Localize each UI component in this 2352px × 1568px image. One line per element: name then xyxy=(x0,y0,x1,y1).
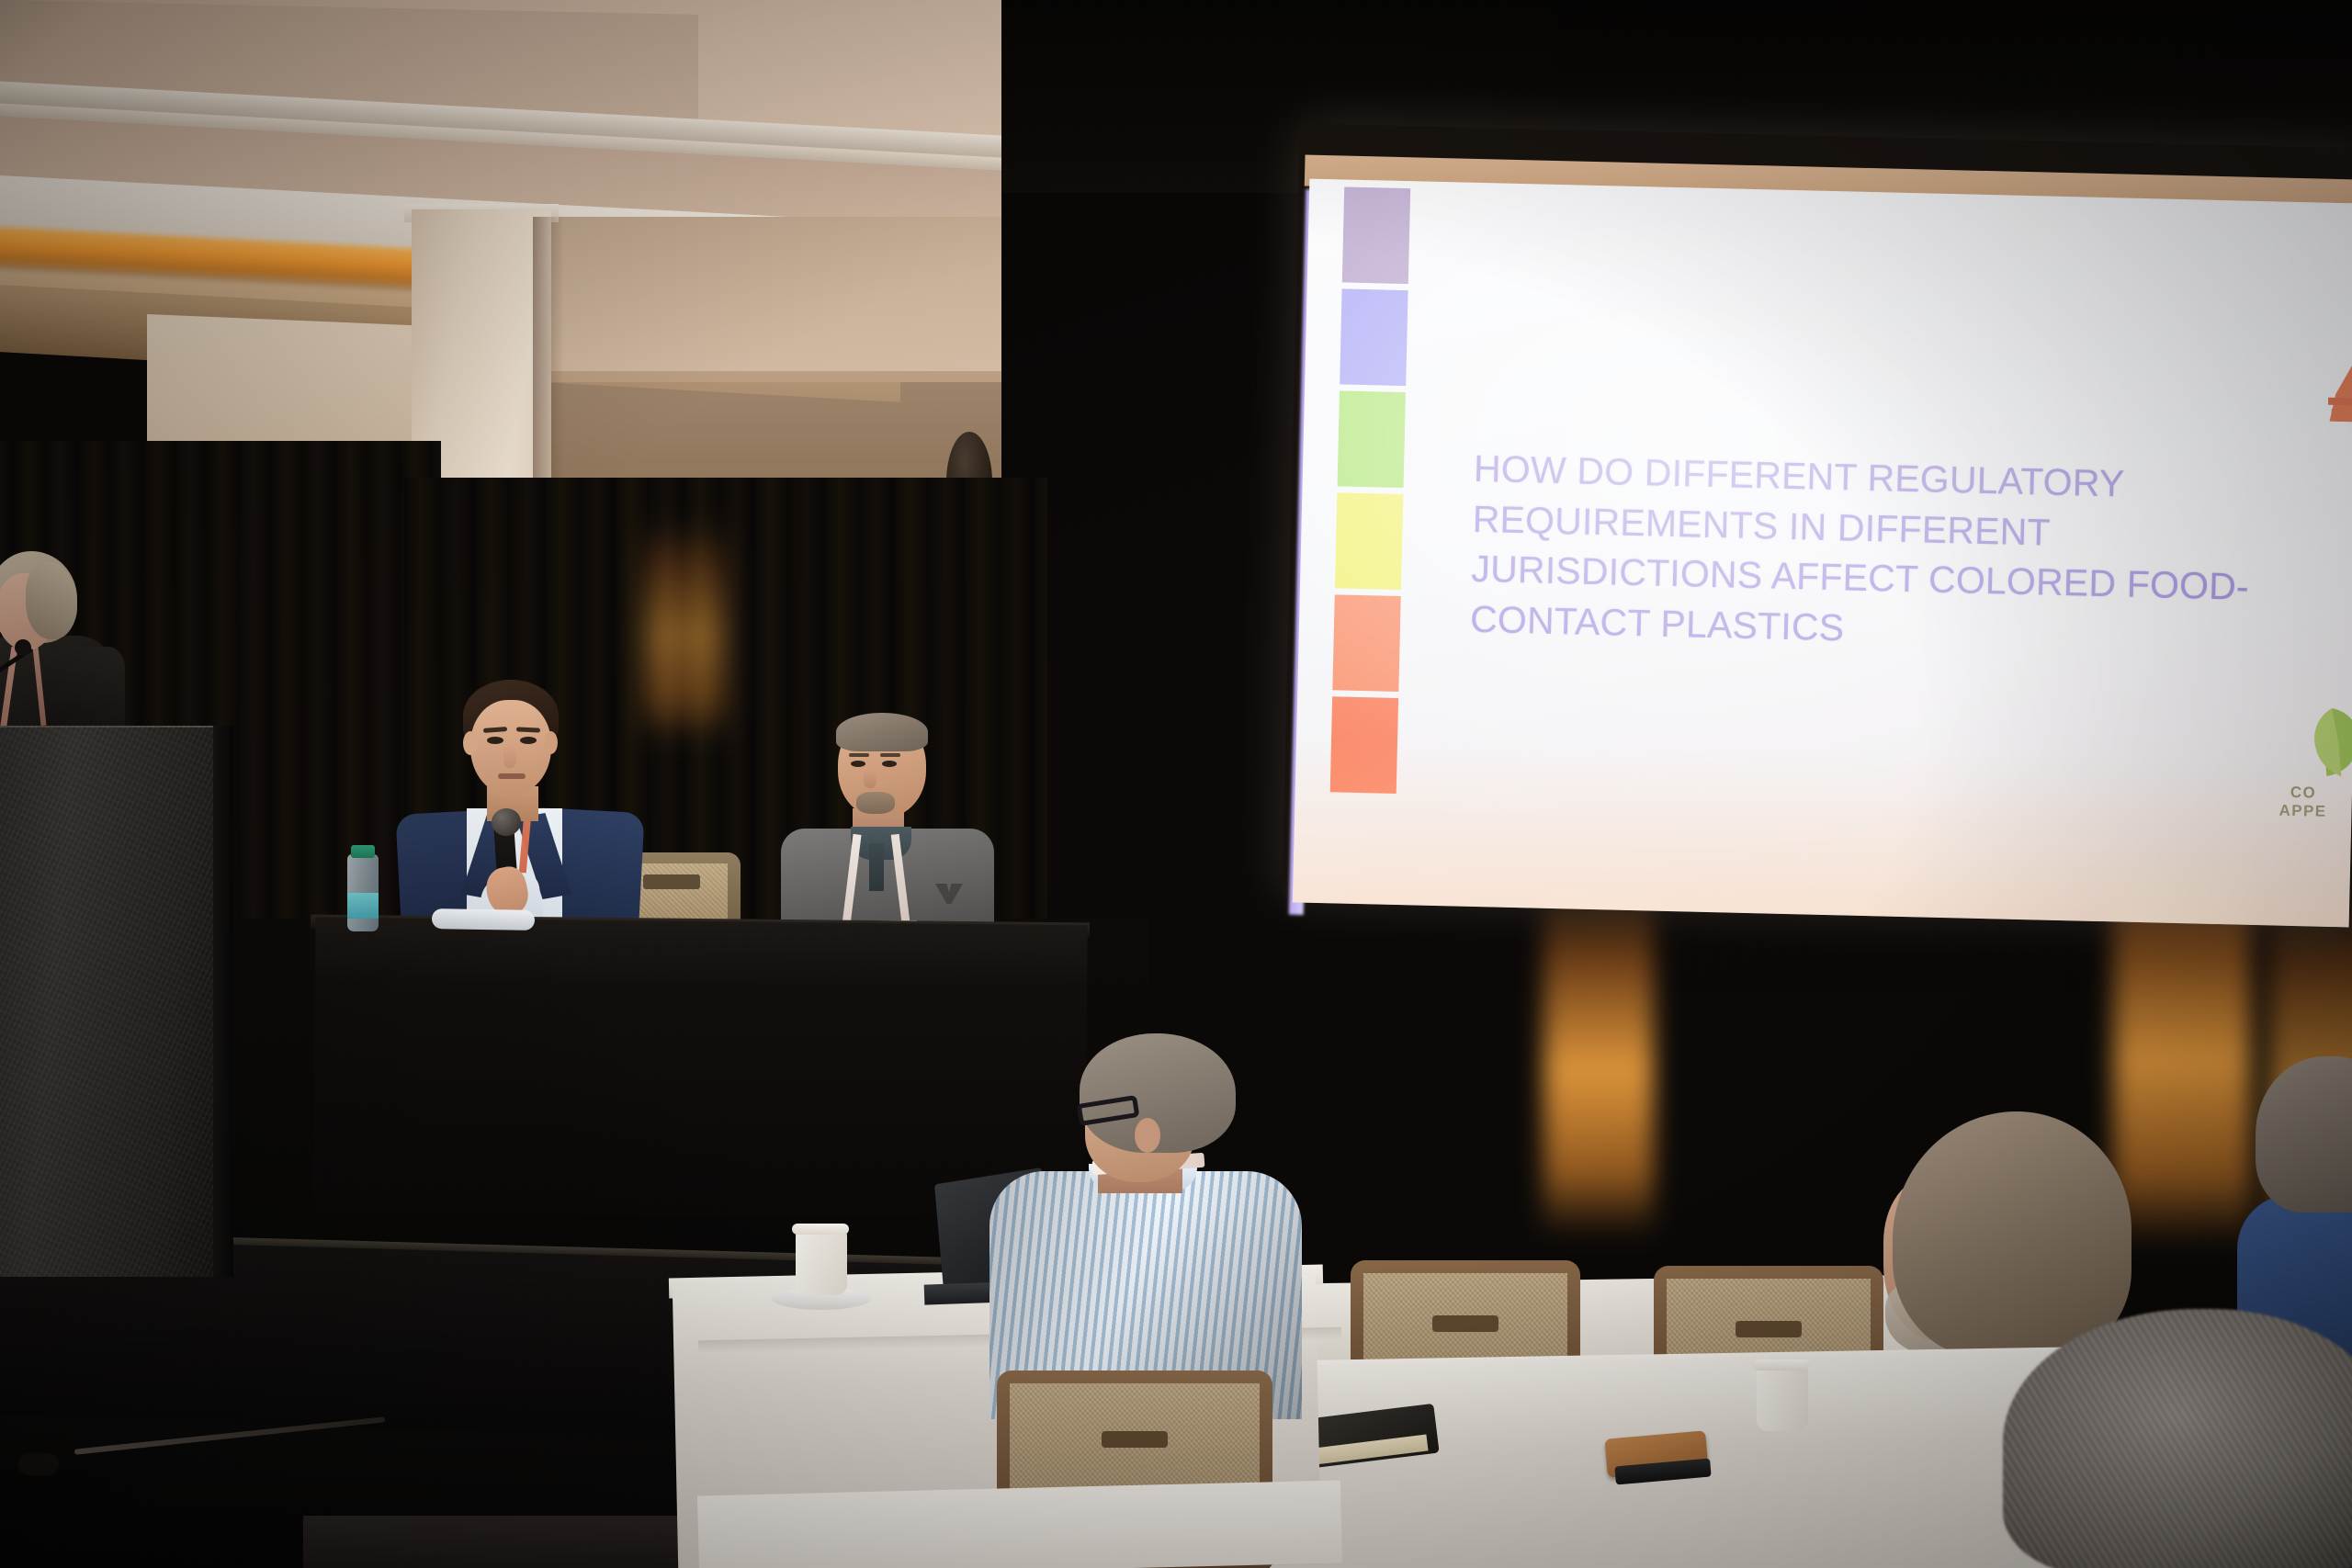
swatch-salmon xyxy=(1332,594,1400,692)
green-leaf-logo: CO APPE xyxy=(2233,705,2352,828)
carpet-patch xyxy=(303,1516,689,1568)
goatee xyxy=(856,792,895,814)
coffee-cup-lidded xyxy=(1757,1367,1808,1431)
partial-orange-logo-icon xyxy=(2247,332,2352,423)
head-table-skirt xyxy=(312,918,1087,1220)
ear-right xyxy=(544,731,558,754)
hair xyxy=(836,713,928,751)
swatch-green xyxy=(1338,390,1406,488)
nose xyxy=(503,746,516,768)
hair xyxy=(2003,1309,2352,1568)
panelist-gray-polo: Michael Mullin xyxy=(772,716,1011,946)
eye-left xyxy=(487,737,503,744)
hair xyxy=(2256,1056,2352,1213)
swatch-yellow xyxy=(1335,492,1403,590)
projection-screen: HOW DO DIFFERENT REGULATORY REQUIREMENTS… xyxy=(1293,179,2352,928)
swatch-coral xyxy=(1330,696,1398,794)
chair-handle-slot xyxy=(1432,1315,1498,1332)
ear-left xyxy=(463,731,478,755)
slide-color-swatch-stack xyxy=(1330,186,1411,800)
podium-mic-head-icon xyxy=(15,639,31,656)
eye-right xyxy=(882,761,897,767)
lectern xyxy=(0,726,225,1277)
audience-gray-hair xyxy=(2003,1309,2352,1568)
swatch-periwinkle xyxy=(1340,288,1408,386)
eye-right xyxy=(520,737,537,744)
water-bottle-label xyxy=(347,893,379,919)
lectern-edge xyxy=(213,726,233,1277)
wall-panel-right xyxy=(551,217,1029,382)
uplight-left xyxy=(1543,888,1654,1237)
nose xyxy=(864,768,876,788)
coffee-cup xyxy=(796,1231,847,1295)
eyebrow-left xyxy=(849,753,869,757)
mouth xyxy=(498,773,526,779)
eye-left xyxy=(851,761,865,767)
logo-line-2: APPE xyxy=(2233,800,2352,821)
audience-striped-shirt xyxy=(997,1033,1383,1419)
eyebrow-right xyxy=(880,753,900,757)
polo-placket xyxy=(869,843,884,891)
ear xyxy=(1135,1118,1160,1153)
mic-stand-base xyxy=(18,1453,59,1475)
leaf-icon xyxy=(2234,705,2352,781)
slide-title: HOW DO DIFFERENT REGULATORY REQUIREMENTS… xyxy=(1470,444,2301,663)
podium-speaker xyxy=(0,551,136,753)
rolled-paper xyxy=(432,908,535,931)
front-table-lower xyxy=(697,1480,1342,1568)
water-bottle-cap xyxy=(351,845,375,858)
coffee-cup-lid xyxy=(1753,1359,1810,1371)
lectern-texture xyxy=(0,726,225,1277)
swatch-purple xyxy=(1342,186,1410,284)
chair-handle-slot xyxy=(1102,1431,1168,1448)
conference-photo: HOW DO DIFFERENT REGULATORY REQUIREMENTS… xyxy=(0,0,2352,1568)
coffee-cup-rim xyxy=(792,1224,849,1235)
panelist-navy-blazer xyxy=(395,680,661,937)
